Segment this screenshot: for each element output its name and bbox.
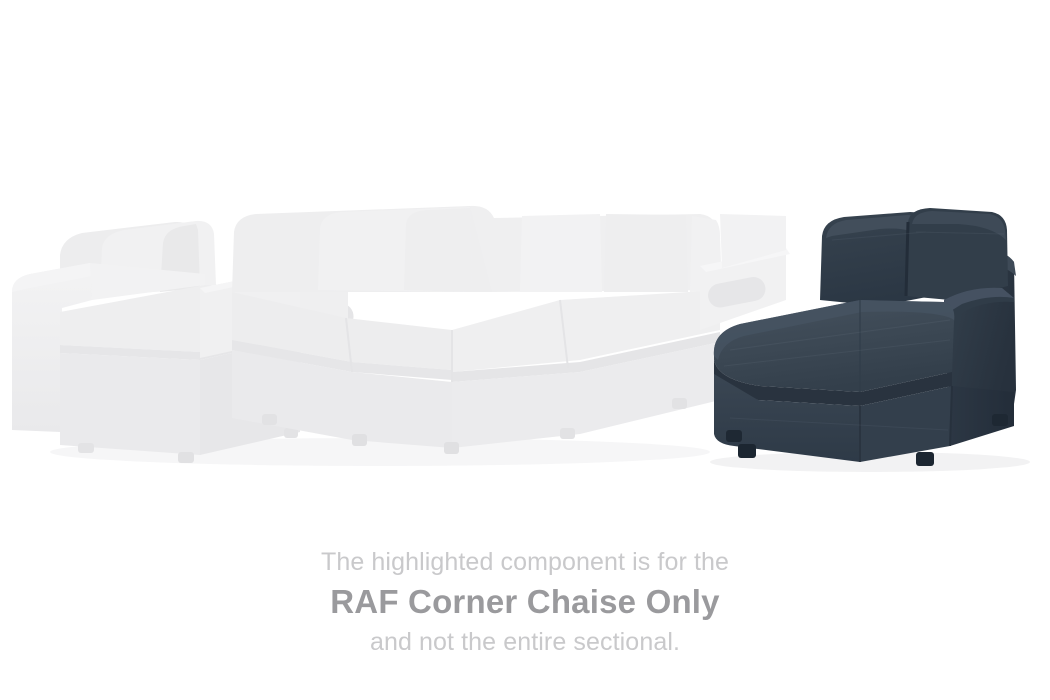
product-image-canvas: The highlighted component is for the RAF… xyxy=(0,0,1050,700)
chaise-foot-front-left xyxy=(738,444,756,458)
ghost-back-run xyxy=(232,206,722,454)
product-illustration xyxy=(0,0,1050,520)
caption-line-disclaimer: and not the entire sectional. xyxy=(0,625,1050,659)
caption-line-component-name: RAF Corner Chaise Only xyxy=(0,579,1050,625)
caption-line-intro: The highlighted component is for the xyxy=(0,545,1050,579)
chaise-foot-front-right xyxy=(916,452,934,466)
chaise-foot-rear-left xyxy=(726,430,742,442)
caption-block: The highlighted component is for the RAF… xyxy=(0,545,1050,659)
sectional-diagram xyxy=(0,0,1050,520)
ghosted-sectional-group xyxy=(12,206,790,466)
chaise-foot-rear-right xyxy=(992,414,1008,426)
